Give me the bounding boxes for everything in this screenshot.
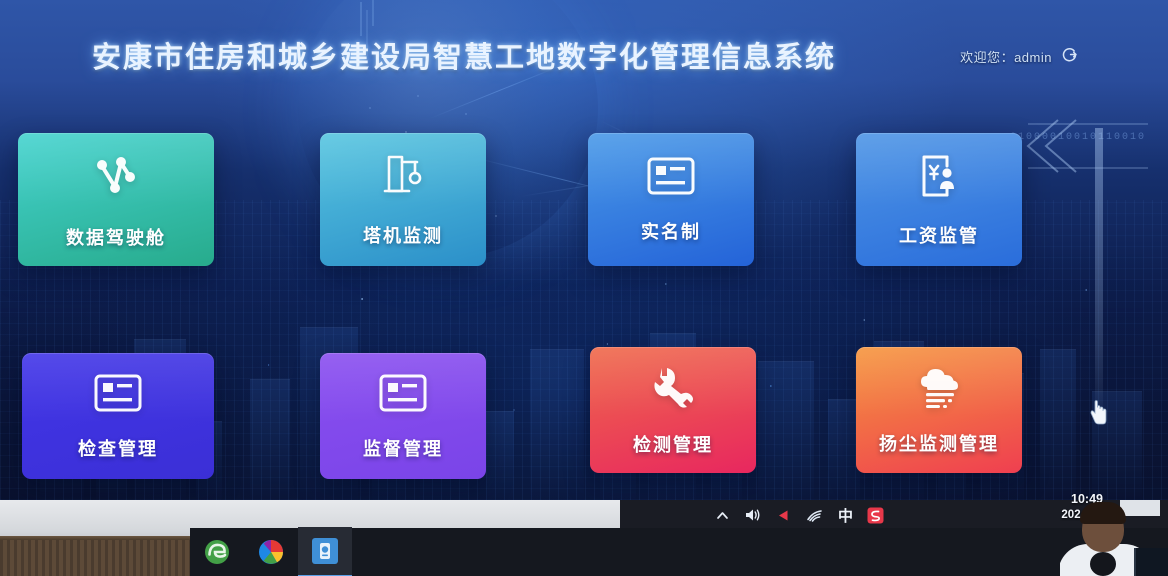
card-wage-supervision[interactable]: 工资监管 xyxy=(856,133,1022,266)
chinese-ime-icon[interactable]: 中 xyxy=(838,505,853,526)
screenshot-root: 01000010010110010 安康市住房和城乡建设局智慧工地数字化管理信息… xyxy=(0,0,1168,576)
chevron-up-icon[interactable] xyxy=(715,508,730,523)
taskbar-app-buttons xyxy=(190,528,352,576)
card-supervision-management[interactable]: 监督管理 xyxy=(320,353,486,479)
card-label: 数据驾驶舱 xyxy=(66,224,166,250)
module-card-grid: 数据驾驶舱 塔机监测 xyxy=(0,0,1168,500)
card-label: 监督管理 xyxy=(363,435,443,461)
windows-taskbar xyxy=(190,528,1168,576)
network-nodes-icon xyxy=(89,149,143,208)
wifi-icon[interactable] xyxy=(805,508,824,523)
card-label: 塔机监测 xyxy=(363,222,443,248)
taskbar-app-blue-app[interactable] xyxy=(298,527,352,576)
wage-person-icon xyxy=(916,151,962,206)
inspect-card-icon xyxy=(93,372,143,419)
red-triangle-icon[interactable] xyxy=(776,508,791,523)
card-inspection-management[interactable]: 检查管理 xyxy=(22,353,214,479)
card-tower-crane-monitoring[interactable]: 塔机监测 xyxy=(320,133,486,266)
person-in-room xyxy=(1060,500,1168,576)
card-label: 扬尘监测管理 xyxy=(879,430,999,456)
card-testing-management[interactable]: 检测管理 xyxy=(590,347,756,473)
card-real-name-system[interactable]: 实名制 xyxy=(588,133,754,266)
system-tray: 中 xyxy=(715,498,884,532)
card-data-cockpit[interactable]: 数据驾驶舱 xyxy=(18,133,214,266)
card-label: 检查管理 xyxy=(78,435,158,461)
supervise-card-icon xyxy=(378,372,428,419)
card-dust-monitoring-management[interactable]: 扬尘监测管理 xyxy=(856,347,1022,473)
speaker-icon[interactable] xyxy=(744,507,762,523)
dust-cloud-icon xyxy=(912,365,966,414)
taskbar-app-edge-browser[interactable] xyxy=(190,528,244,576)
card-label: 检测管理 xyxy=(633,431,713,457)
id-card-icon xyxy=(646,155,696,202)
taskbar-app-360-browser[interactable] xyxy=(244,528,298,576)
red-app-icon[interactable] xyxy=(867,507,884,524)
projection-screen: 01000010010110010 安康市住房和城乡建设局智慧工地数字化管理信息… xyxy=(0,0,1168,500)
card-label: 实名制 xyxy=(641,218,701,244)
card-label: 工资监管 xyxy=(899,222,979,248)
tower-crane-icon xyxy=(379,151,427,206)
wrench-tool-icon xyxy=(647,364,699,415)
